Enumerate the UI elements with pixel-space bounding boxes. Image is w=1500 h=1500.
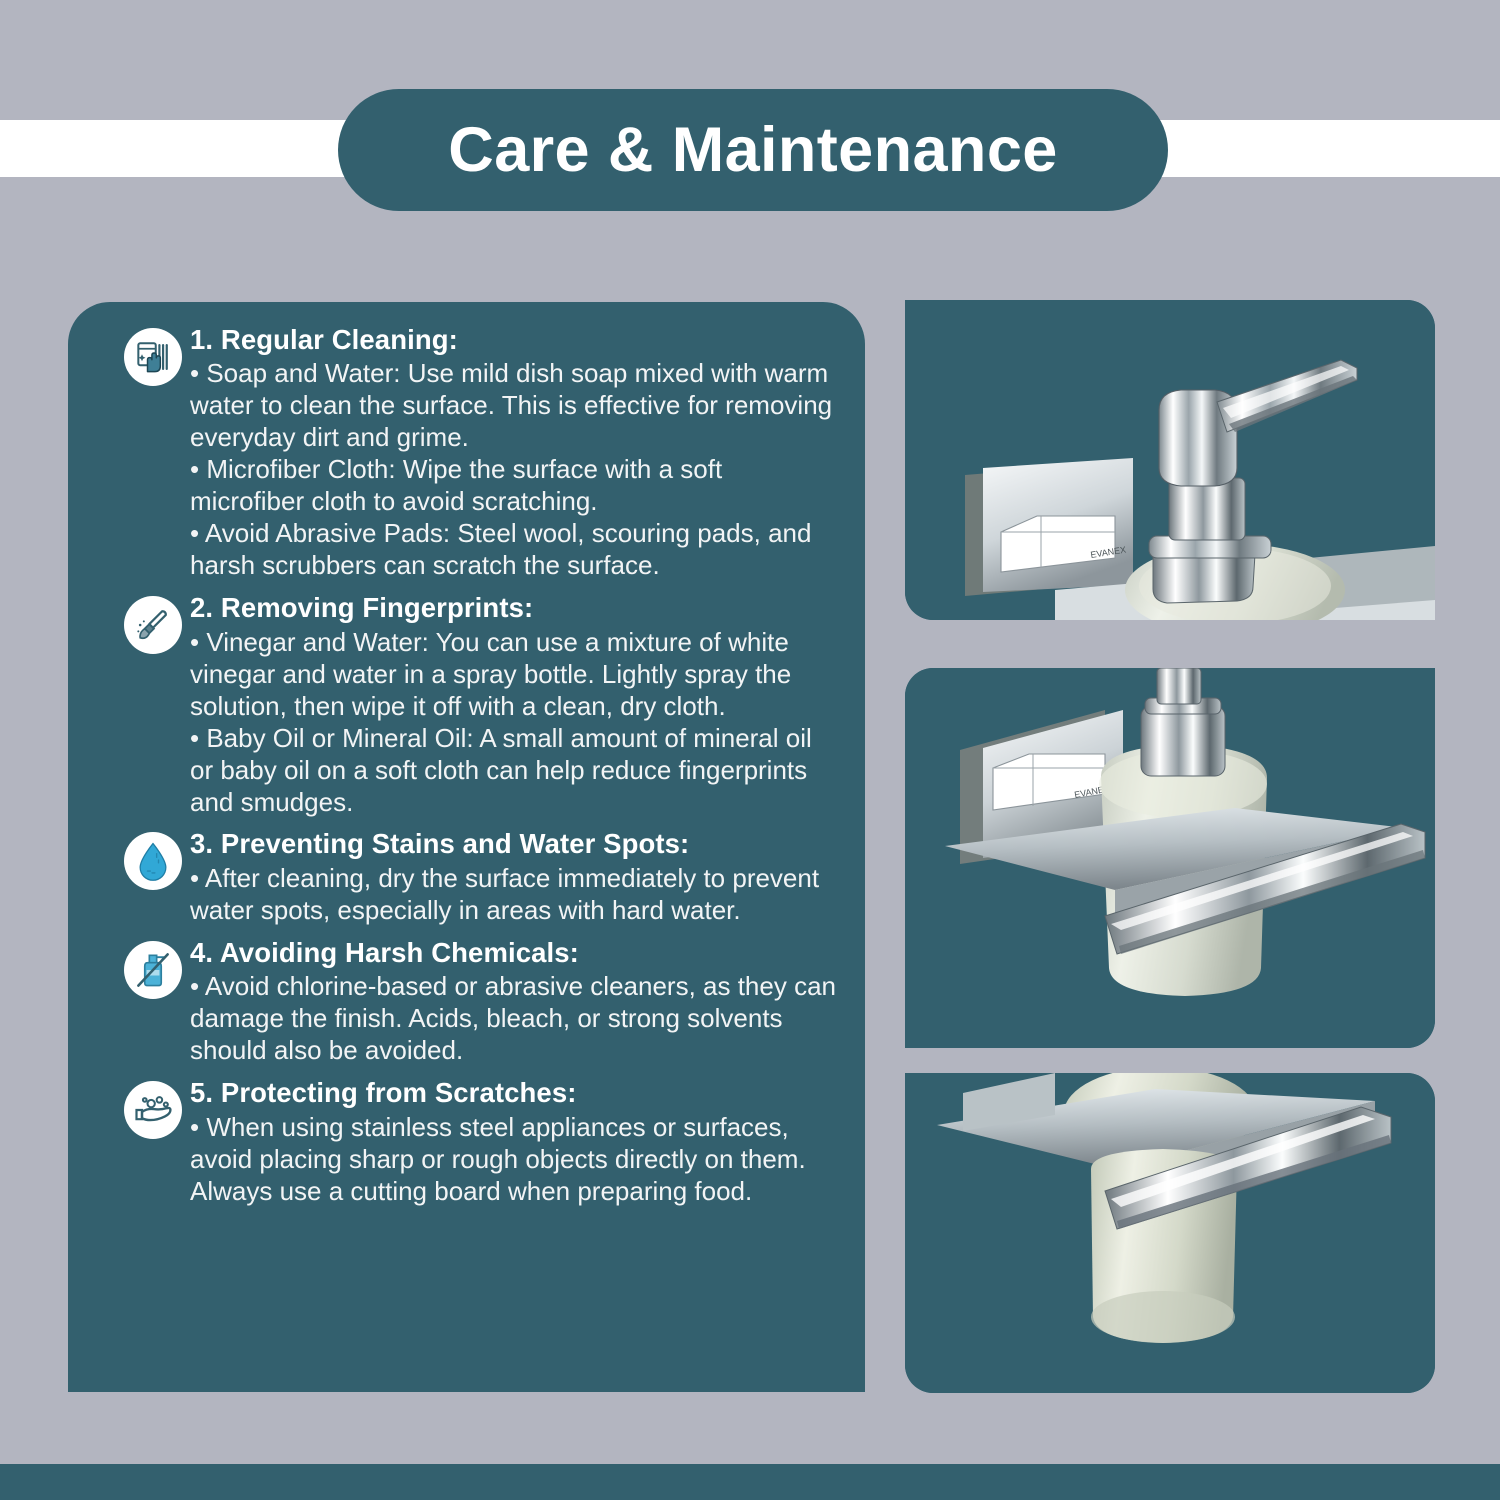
section-heading: 3. Preventing Stains and Water Spots: [190, 828, 839, 860]
section-heading: 5. Protecting from Scratches: [190, 1077, 839, 1109]
scrub-brush-icon [124, 596, 182, 654]
section-body: • Avoid chlorine-based or abrasive clean… [190, 971, 839, 1067]
page-title: Care & Maintenance [448, 119, 1057, 182]
section-heading: 1. Regular Cleaning: [190, 324, 839, 356]
soap-dispenser-shelf-view: EVANEX [905, 668, 1435, 1048]
care-instructions-panel: 1. Regular Cleaning: • Soap and Water: U… [68, 302, 865, 1392]
section-protecting-from-scratches: 5. Protecting from Scratches: • When usi… [94, 1077, 839, 1207]
hand-soap-bubbles-icon [124, 1081, 182, 1139]
footer-accent-bar [0, 1464, 1500, 1500]
section-heading: 4. Avoiding Harsh Chemicals: [190, 937, 839, 969]
hand-wipe-surface-icon [124, 328, 182, 386]
section-avoiding-harsh-chemicals: 4. Avoiding Harsh Chemicals: • Avoid chl… [94, 937, 839, 1067]
product-image-card-2: EVANEX [905, 668, 1435, 1048]
section-body: • After cleaning, dry the surface immedi… [190, 863, 839, 927]
section-body: • Vinegar and Water: You can use a mixtu… [190, 627, 839, 819]
product-image-card-1: EVANEX [905, 300, 1435, 620]
section-regular-cleaning: 1. Regular Cleaning: • Soap and Water: U… [94, 324, 839, 582]
section-heading: 2. Removing Fingerprints: [190, 592, 839, 624]
product-image-card-3 [905, 1073, 1435, 1393]
no-spray-bottle-icon [124, 941, 182, 999]
soap-dispenser-top-view: EVANEX [905, 300, 1435, 620]
water-droplet-icon [124, 832, 182, 890]
section-removing-fingerprints: 2. Removing Fingerprints: • Vinegar and … [94, 592, 839, 818]
section-preventing-stains: 3. Preventing Stains and Water Spots: • … [94, 828, 839, 926]
page-title-pill: Care & Maintenance [338, 89, 1168, 211]
section-body: • Soap and Water: Use mild dish soap mix… [190, 358, 839, 582]
soap-dispenser-bottle-view [905, 1073, 1435, 1393]
section-body: • When using stainless steel appliances … [190, 1112, 839, 1208]
